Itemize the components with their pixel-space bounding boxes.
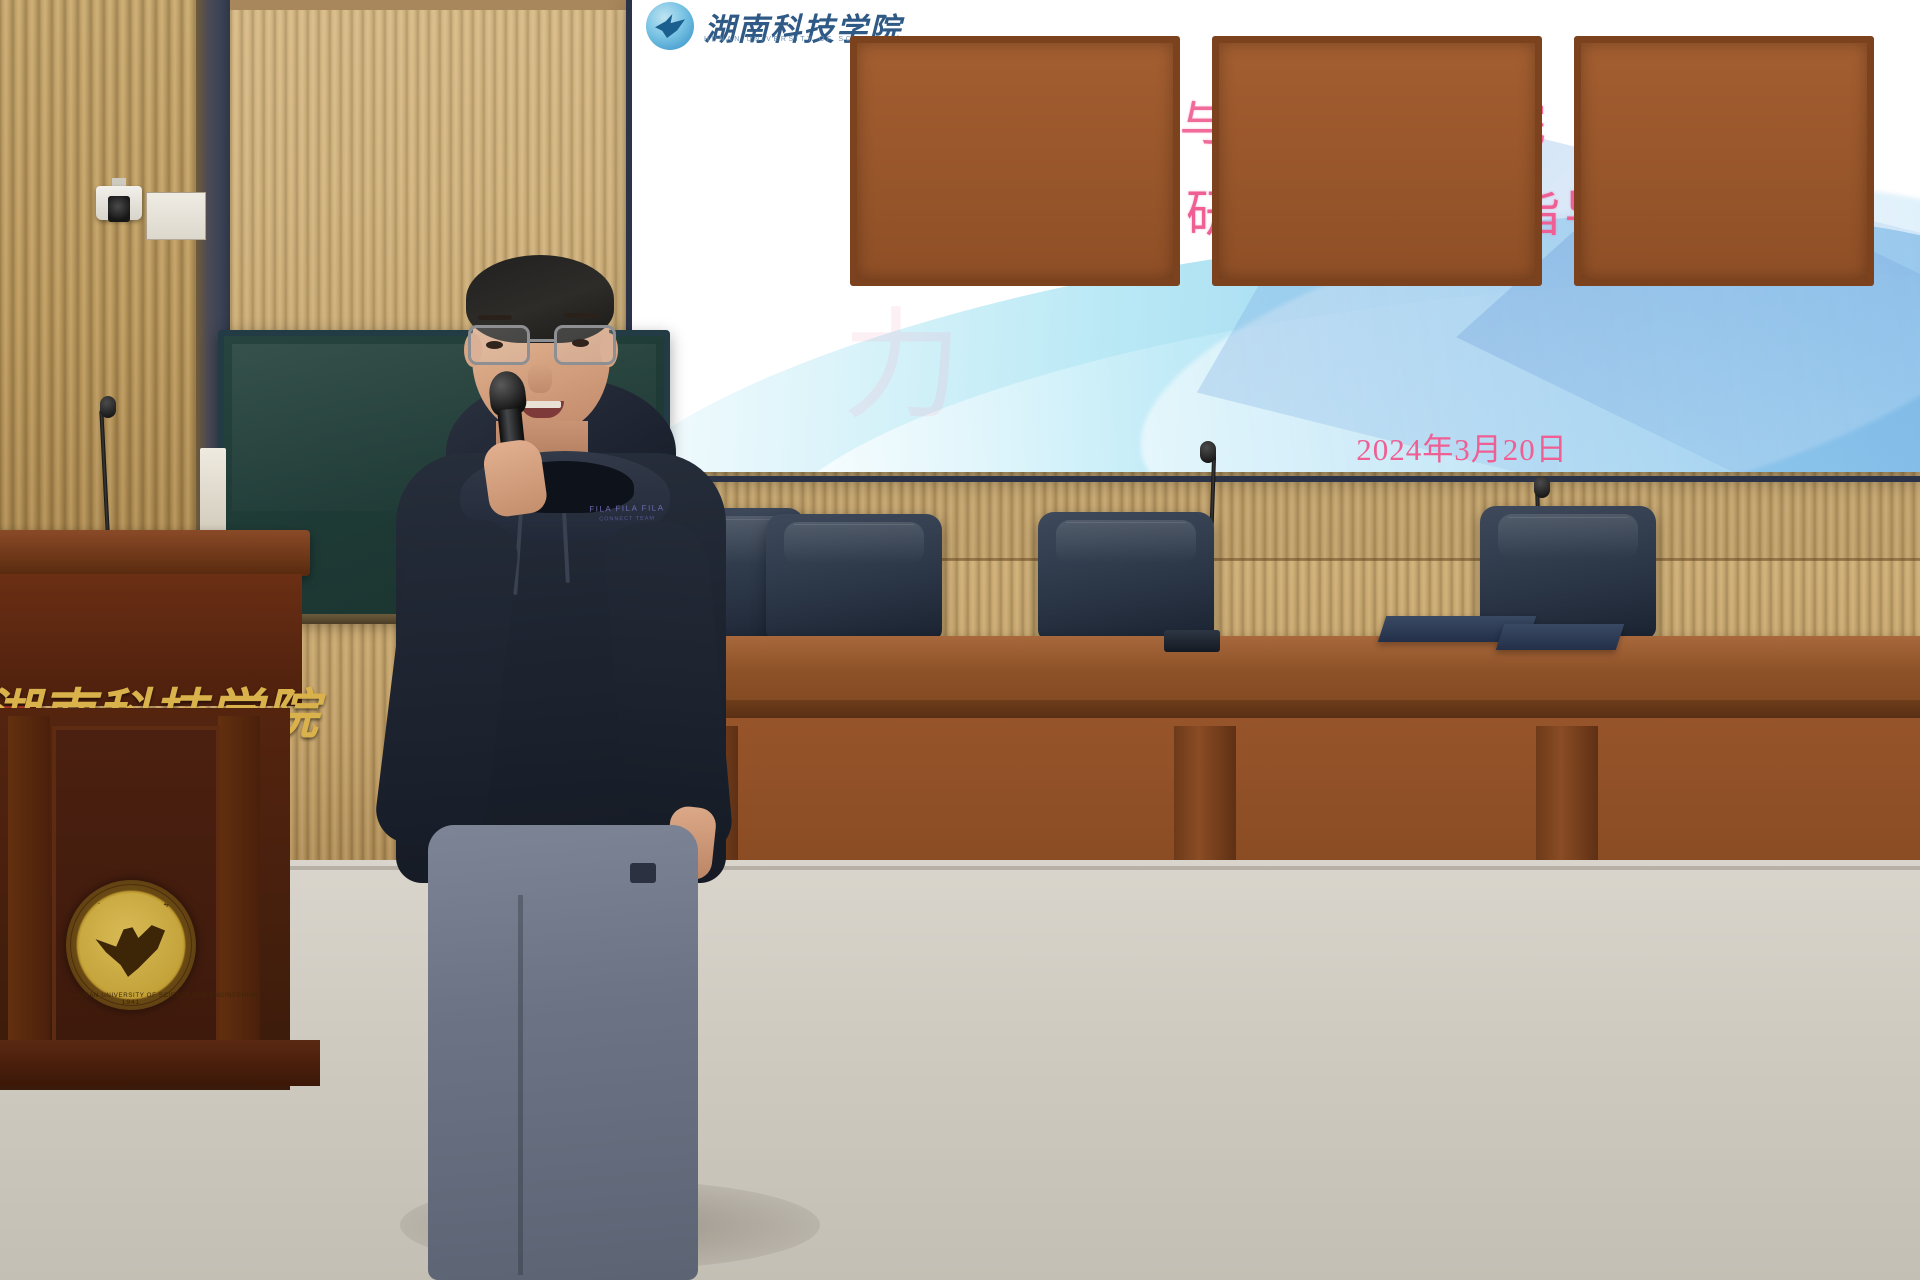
speaker-teeth xyxy=(523,401,561,408)
hoodie-brand-text: FILA FILA FILA CONNECT TEAM xyxy=(582,502,672,524)
emblem-year-text: 1941 xyxy=(66,999,196,1006)
chair-3 xyxy=(1038,512,1214,640)
chair-highlight xyxy=(1498,514,1639,559)
wall-camera-icon xyxy=(96,178,142,230)
mic-head-icon xyxy=(1534,476,1550,498)
chair-highlight xyxy=(784,522,925,565)
slide-date-text: 2024年3月20日 xyxy=(962,424,1920,469)
chair-backrest xyxy=(1038,512,1214,640)
eyeglass-bridge xyxy=(530,339,556,342)
university-emblem: 湖南科技学院 HUNAN UNIVERSITY OF SCIENCE AND E… xyxy=(66,880,196,1010)
chair-backrest xyxy=(766,514,942,640)
emblem-en-text: HUNAN UNIVERSITY OF SCIENCE AND ENGINEER… xyxy=(74,992,188,999)
table-panel-3 xyxy=(1574,36,1874,286)
slide-ghost-watermark: 力 xyxy=(842,268,972,442)
chair-seam xyxy=(794,524,914,525)
lectern-podium: 湖南科技学院 湖南科技学院 HUNAN UNIVERSITY OF SCIENC… xyxy=(0,530,320,1090)
podium-pillar-right xyxy=(218,716,260,1076)
speaker-brow-right xyxy=(564,313,598,318)
camera-lens xyxy=(108,196,130,222)
speaker-person: FILA FILA FILA CONNECT TEAM xyxy=(368,255,748,1280)
table-panel-1 xyxy=(850,36,1180,286)
podium-top-surface xyxy=(0,530,310,576)
chair-seam xyxy=(1508,517,1628,518)
wall-mounted-plate xyxy=(146,192,206,240)
desk-mic-base-center xyxy=(1164,630,1220,652)
desk-folder-2 xyxy=(1496,624,1624,650)
speaker-brow-left xyxy=(478,315,512,320)
chair-highlight xyxy=(1056,520,1197,564)
podium-base xyxy=(0,1040,320,1086)
chair-2 xyxy=(766,514,942,640)
chair-seam xyxy=(1066,522,1186,523)
mic-head-icon xyxy=(100,396,116,418)
hoodie-brand-sub: CONNECT TEAM xyxy=(582,514,672,524)
speaker-pants xyxy=(428,825,698,1280)
photo-scene: 力 湖南科技学院 HUNAN UNIVERSITY OF SCIENCE AND… xyxy=(0,0,1920,1280)
speaker-eye-right xyxy=(572,339,589,347)
crane-disc-logo-icon xyxy=(646,2,694,50)
pants-seam xyxy=(518,895,523,1275)
mic-head-icon xyxy=(1200,441,1216,463)
podium-pillar-left xyxy=(8,716,50,1076)
hoodie-brand-main: FILA FILA FILA xyxy=(589,503,664,513)
camera-body xyxy=(96,186,142,220)
pants-pocket-tag xyxy=(630,863,656,883)
table-panel-2 xyxy=(1212,36,1542,286)
speaker-eye-left xyxy=(486,341,503,349)
speaker-nose xyxy=(528,363,552,393)
